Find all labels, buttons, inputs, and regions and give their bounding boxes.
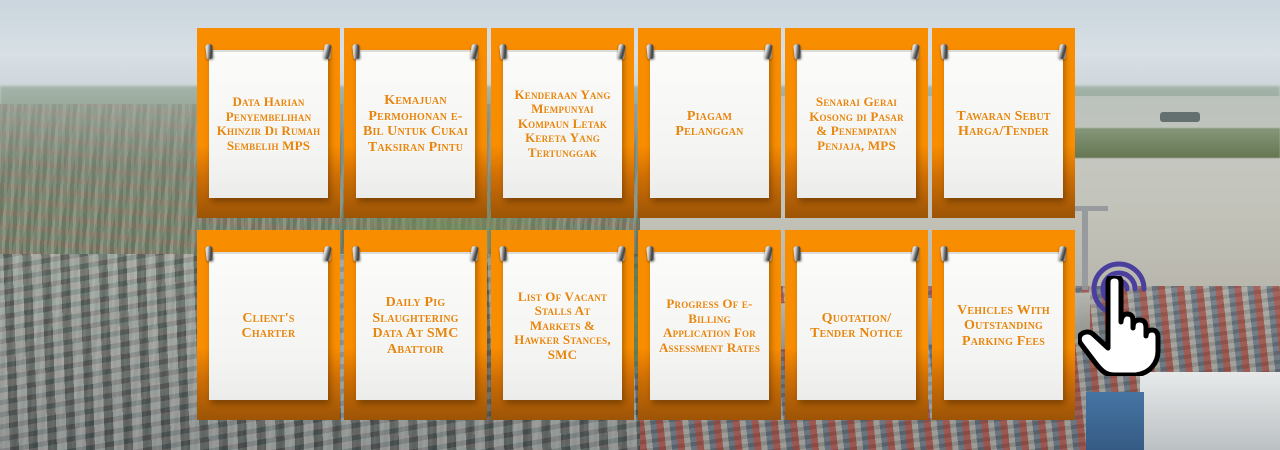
card-title: Kemajuan Permohonan e-Bil Untuk Cukai Ta… <box>361 93 470 155</box>
paper-top-edge <box>650 50 769 52</box>
card-paper: Kenderaan Yang Mempunyai Kompaun Letak K… <box>503 50 622 198</box>
paper-clip-left-icon <box>646 44 655 60</box>
paper-clip-right-icon <box>764 246 773 262</box>
paper-top-edge <box>356 252 475 254</box>
service-card-quotation-tender-notice[interactable]: Quotation/ Tender Notice <box>785 230 928 420</box>
card-title: Kenderaan Yang Mempunyai Kompaun Letak K… <box>508 88 617 161</box>
service-card-piagam-pelanggan[interactable]: Piagam Pelanggan <box>638 28 781 218</box>
paper-clip-left-icon <box>352 246 361 262</box>
card-title: Piagam Pelanggan <box>655 109 764 140</box>
paper-clip-right-icon <box>470 44 479 60</box>
page-stage: Data Harian Penyembelihan Khinzir Di Rum… <box>0 0 1280 450</box>
paper-clip-right-icon <box>323 246 332 262</box>
card-title: Client's Charter <box>214 311 323 342</box>
service-card-kenderaan-kompaun-letak-kereta[interactable]: Kenderaan Yang Mempunyai Kompaun Letak K… <box>491 28 634 218</box>
paper-top-edge <box>356 50 475 52</box>
paper-top-edge <box>797 50 916 52</box>
paper-clip-right-icon <box>911 44 920 60</box>
card-title: Tawaran Sebut Harga/Tender <box>949 109 1058 140</box>
service-card-kemajuan-permohonan-e-bil[interactable]: Kemajuan Permohonan e-Bil Untuk Cukai Ta… <box>344 28 487 218</box>
paper-clip-left-icon <box>793 44 802 60</box>
paper-clip-right-icon <box>1058 44 1067 60</box>
paper-top-edge <box>209 50 328 52</box>
paper-clip-left-icon <box>499 246 508 262</box>
paper-clip-left-icon <box>940 246 949 262</box>
paper-clip-right-icon <box>911 246 920 262</box>
card-paper: Vehicles With Outstanding Parking Fees <box>944 252 1063 400</box>
service-card-senarai-gerai-kosong[interactable]: Senarai Gerai Kosong di Pasar & Penempat… <box>785 28 928 218</box>
card-title: Progress Of e-Billing Application For As… <box>655 297 764 355</box>
paper-clip-left-icon <box>205 44 214 60</box>
card-paper: Daily Pig Slaughtering Data At SMC Abatt… <box>356 252 475 400</box>
paper-top-edge <box>209 252 328 254</box>
service-card-daily-pig-slaughtering-data[interactable]: Daily Pig Slaughtering Data At SMC Abatt… <box>344 230 487 420</box>
service-card-progress-of-e-billing[interactable]: Progress Of e-Billing Application For As… <box>638 230 781 420</box>
paper-clip-left-icon <box>205 246 214 262</box>
service-card-list-of-vacant-stalls[interactable]: List Of Vacant Stalls At Markets & Hawke… <box>491 230 634 420</box>
paper-clip-right-icon <box>617 44 626 60</box>
paper-clip-right-icon <box>617 246 626 262</box>
paper-clip-left-icon <box>646 246 655 262</box>
paper-clip-right-icon <box>323 44 332 60</box>
card-paper: Senarai Gerai Kosong di Pasar & Penempat… <box>797 50 916 198</box>
paper-top-edge <box>944 252 1063 254</box>
card-paper: Quotation/ Tender Notice <box>797 252 916 400</box>
card-title: Quotation/ Tender Notice <box>802 311 911 342</box>
paper-top-edge <box>503 50 622 52</box>
card-paper: Progress Of e-Billing Application For As… <box>650 252 769 400</box>
card-paper: List Of Vacant Stalls At Markets & Hawke… <box>503 252 622 400</box>
card-paper: Kemajuan Permohonan e-Bil Untuk Cukai Ta… <box>356 50 475 198</box>
paper-clip-left-icon <box>352 44 361 60</box>
service-card-vehicles-outstanding-parking-fees[interactable]: Vehicles With Outstanding Parking Fees <box>932 230 1075 420</box>
paper-clip-right-icon <box>470 246 479 262</box>
paper-top-edge <box>944 50 1063 52</box>
service-card-data-harian-penyembelihan[interactable]: Data Harian Penyembelihan Khinzir Di Rum… <box>197 28 340 218</box>
paper-clip-right-icon <box>764 44 773 60</box>
paper-top-edge <box>650 252 769 254</box>
paper-clip-left-icon <box>499 44 508 60</box>
paper-top-edge <box>503 252 622 254</box>
paper-top-edge <box>797 252 916 254</box>
card-title: Daily Pig Slaughtering Data At SMC Abatt… <box>361 295 470 357</box>
card-paper: Piagam Pelanggan <box>650 50 769 198</box>
card-paper: Tawaran Sebut Harga/Tender <box>944 50 1063 198</box>
card-paper: Client's Charter <box>209 252 328 400</box>
service-card-grid: Data Harian Penyembelihan Khinzir Di Rum… <box>197 28 1083 420</box>
paper-clip-right-icon <box>1058 246 1067 262</box>
service-card-clients-charter[interactable]: Client's Charter <box>197 230 340 420</box>
card-title: Senarai Gerai Kosong di Pasar & Penempat… <box>802 95 911 153</box>
card-title: Vehicles With Outstanding Parking Fees <box>949 303 1058 350</box>
service-card-tawaran-sebut-harga-tender[interactable]: Tawaran Sebut Harga/Tender <box>932 28 1075 218</box>
card-paper: Data Harian Penyembelihan Khinzir Di Rum… <box>209 50 328 198</box>
card-title: List Of Vacant Stalls At Markets & Hawke… <box>508 290 617 363</box>
paper-clip-left-icon <box>793 246 802 262</box>
card-title: Data Harian Penyembelihan Khinzir Di Rum… <box>214 95 323 153</box>
paper-clip-left-icon <box>940 44 949 60</box>
